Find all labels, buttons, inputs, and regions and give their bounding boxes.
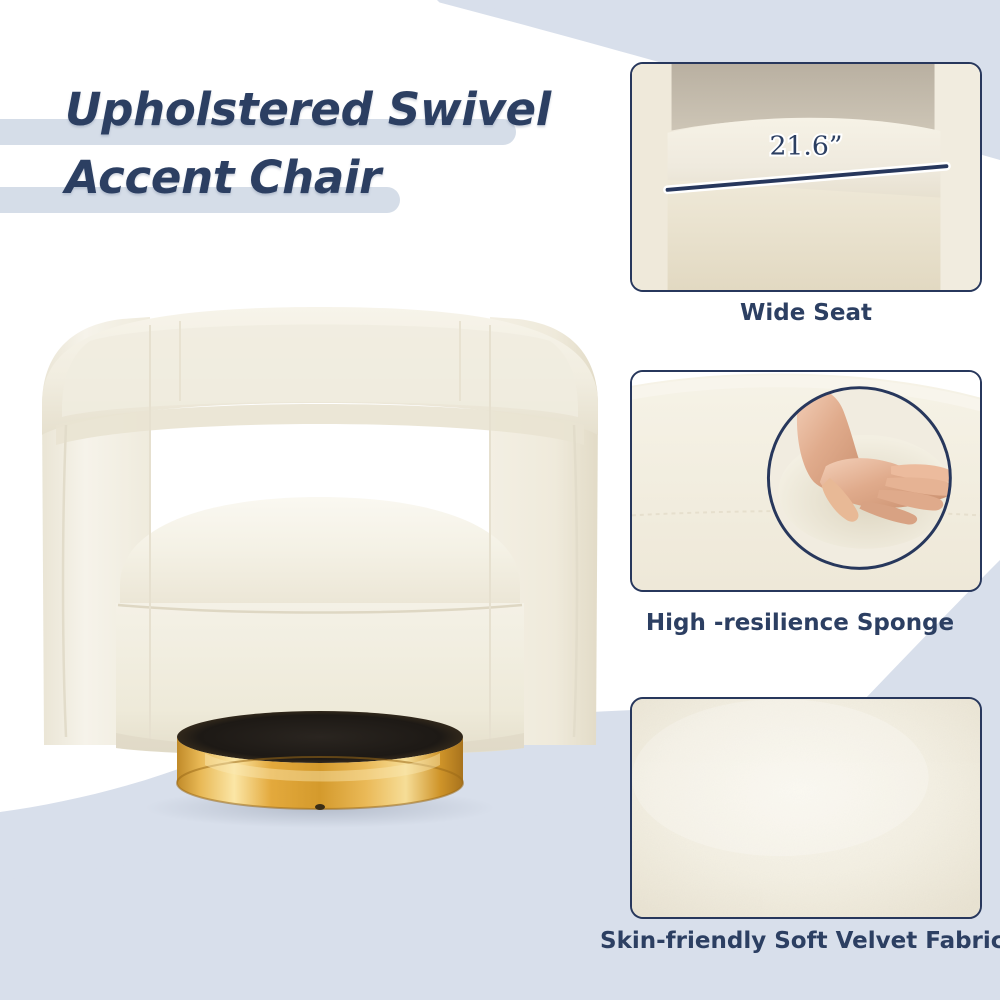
infographic-canvas: Upholstered Swivel Accent Chair <box>0 0 1000 1000</box>
panel1-measurement-label: 21.6” <box>769 130 842 161</box>
title-line-1-row: Upholstered Swivel <box>0 78 620 146</box>
title-line-2: Accent Chair <box>65 146 381 210</box>
gold-base-center-pin <box>315 804 325 810</box>
title-line-2-row: Accent Chair <box>0 146 620 214</box>
page-title: Upholstered Swivel Accent Chair <box>0 78 620 214</box>
feature-caption-sponge: High -resilience Sponge <box>600 610 1000 636</box>
feature-panel-sponge <box>630 370 982 592</box>
chair-gold-swivel-base <box>177 711 463 810</box>
title-line-1: Upholstered Swivel <box>65 78 551 142</box>
chair-seat-cushion <box>120 497 520 615</box>
feature-caption-velvet: Skin-friendly Soft Velvet Fabric <box>600 928 1000 954</box>
hero-chair-image <box>30 285 610 840</box>
gold-base-top-opening <box>177 711 463 763</box>
panel1-arm-left <box>632 64 672 290</box>
panel3-velvet-sheen <box>632 699 929 856</box>
feature-panel-velvet <box>630 697 982 919</box>
feature-panel-wide-seat: 21.6” <box>630 62 982 292</box>
panel1-seat-front <box>668 180 941 290</box>
panel1-arm-right <box>935 64 980 290</box>
feature-caption-wide-seat: Wide Seat <box>630 300 982 326</box>
chair-backrest-inner <box>62 325 578 418</box>
